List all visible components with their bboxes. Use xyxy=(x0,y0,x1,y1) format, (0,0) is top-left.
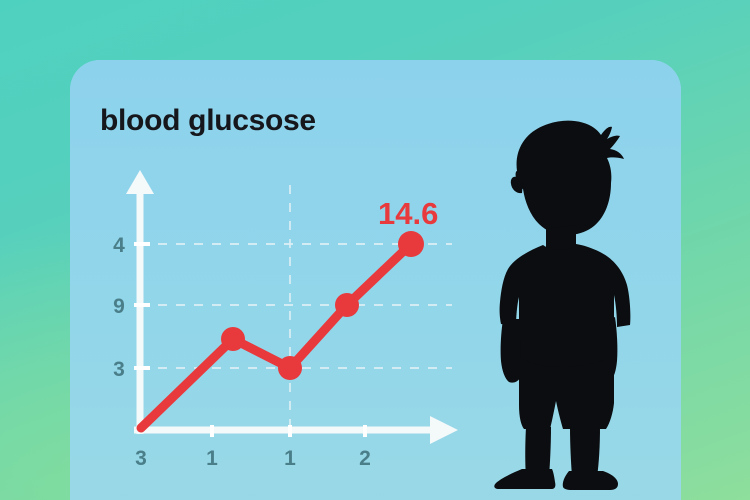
child-silhouette xyxy=(470,105,660,490)
data-line xyxy=(141,244,411,428)
y-tick-label: 3 xyxy=(113,358,125,381)
x-tick-label: 1 xyxy=(206,447,218,470)
x-axis-arrow-icon xyxy=(430,416,458,444)
x-tick-label: 3 xyxy=(135,447,147,470)
y-axis-arrow-icon xyxy=(126,170,154,194)
screenshot-root: blood glucsose xyxy=(0,0,750,500)
y-tick-label: 9 xyxy=(113,295,125,318)
data-point[interactable] xyxy=(335,293,359,317)
data-point[interactable] xyxy=(278,356,302,380)
y-tick-label: 4 xyxy=(113,234,125,257)
value-annotation: 14.6 xyxy=(378,196,438,231)
data-point[interactable] xyxy=(398,231,424,257)
x-tick-label: 2 xyxy=(359,447,371,470)
data-point[interactable] xyxy=(221,327,245,351)
x-tick-label: 1 xyxy=(284,447,296,470)
x-axis xyxy=(134,416,458,444)
y-axis xyxy=(126,170,154,434)
gridlines-horizontal xyxy=(140,244,452,368)
